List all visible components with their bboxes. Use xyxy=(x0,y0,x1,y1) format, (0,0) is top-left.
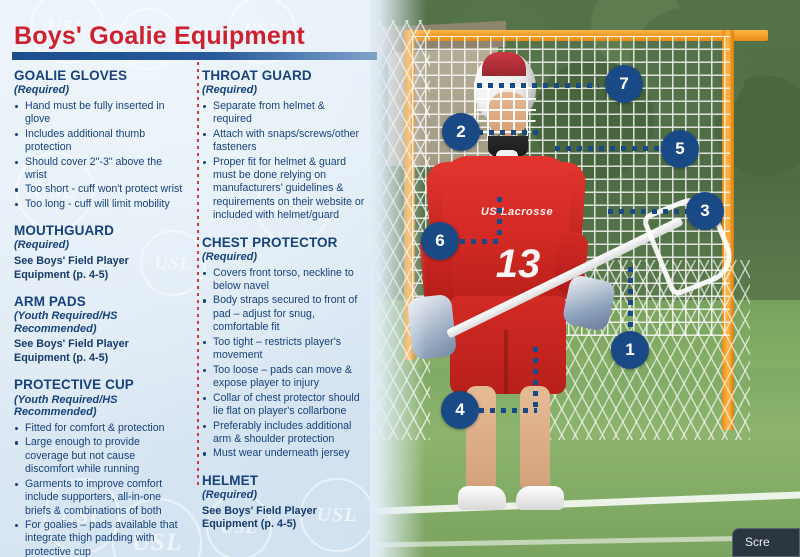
list-item: Too tight – restricts player's movement xyxy=(202,336,366,363)
list-item: Too long - cuff will limit mobility xyxy=(14,198,184,211)
section-requirement: (Required) xyxy=(202,84,366,97)
section-heading: PROTECTIVE CUP xyxy=(14,377,184,392)
callout-6-arm-pads[interactable]: 6 xyxy=(421,222,459,260)
section-requirement: (Youth Required/HS Recommended) xyxy=(14,310,184,335)
list-item: Too short - cuff won't protect wrist xyxy=(14,183,184,196)
leader-line-4-vertical xyxy=(533,347,538,410)
list-item: Must wear underneath jersey xyxy=(202,447,366,460)
content-columns: GOALIE GLOVES (Required) Hand must be fu… xyxy=(14,68,382,513)
see-also-reference: See Boys' Field Player Equipment (p. 4-5… xyxy=(202,505,366,532)
leader-line-5 xyxy=(555,146,665,151)
right-column: THROAT GUARD (Required) Separate from he… xyxy=(192,68,374,513)
jersey-number: 13 xyxy=(488,240,548,288)
player-helmet-stripe xyxy=(482,52,526,76)
list-item: Includes additional thumb protection xyxy=(14,128,184,155)
section-throat-guard: THROAT GUARD (Required) Separate from he… xyxy=(202,68,366,223)
section-requirement: (Required) xyxy=(202,251,366,264)
leader-line-2 xyxy=(478,130,538,135)
section-protective-cup: PROTECTIVE CUP (Youth Required/HS Recomm… xyxy=(14,377,184,557)
list-item: Should cover 2"-3" above the wrist xyxy=(14,156,184,183)
leader-line-6 xyxy=(460,239,502,244)
section-helmet: HELMET (Required) See Boys' Field Player… xyxy=(202,473,366,532)
bullet-list: Separate from helmet & required Attach w… xyxy=(202,100,366,223)
page-title: Boys' Goalie Equipment xyxy=(14,22,305,51)
leader-line-7 xyxy=(477,83,599,88)
section-requirement: (Required) xyxy=(14,84,184,97)
list-item: Body straps secured to front of pad – ad… xyxy=(202,294,366,334)
section-heading: CHEST PROTECTOR xyxy=(202,235,366,250)
list-item: Preferably includes additional arm & sho… xyxy=(202,420,366,447)
section-heading: GOALIE GLOVES xyxy=(14,68,184,83)
list-item: For goalies – pads available that integr… xyxy=(14,519,184,557)
bullet-list: Fitted for comfort & protection Large en… xyxy=(14,422,184,557)
left-column: GOALIE GLOVES (Required) Hand must be fu… xyxy=(14,68,192,513)
list-item: Garments to improve comfort include supp… xyxy=(14,478,184,518)
player-shoe-left xyxy=(458,486,506,510)
leader-line-3 xyxy=(608,209,691,214)
bullet-list: Covers front torso, neckline to below na… xyxy=(202,267,366,461)
player-shoe-right xyxy=(516,486,564,510)
list-item: Large enough to provide coverage but not… xyxy=(14,436,184,476)
player-shorts-seam xyxy=(504,330,508,394)
title-underline-bar xyxy=(12,52,377,60)
see-also-reference: See Boys' Field Player Equipment (p. 4-5… xyxy=(14,338,184,365)
list-item: Hand must be fully inserted in glove xyxy=(14,100,184,127)
page-root: USL USL USL USL USL USL USL USL USL USL … xyxy=(0,0,800,557)
bullet-list: Hand must be fully inserted in glove Inc… xyxy=(14,100,184,212)
section-requirement: (Youth Required/HS Recommended) xyxy=(14,394,184,419)
leader-line-6-vertical xyxy=(497,197,502,241)
see-also-reference: See Boys' Field Player Equipment (p. 4-5… xyxy=(14,255,184,282)
list-item: Too loose – pads can move & expose playe… xyxy=(202,364,366,391)
section-heading: ARM PADS xyxy=(14,294,184,309)
player-shorts xyxy=(450,296,566,394)
screen-tooltip[interactable]: Scre xyxy=(732,528,800,557)
callout-5-mouthguard[interactable]: 5 xyxy=(661,130,699,168)
section-heading: MOUTHGUARD xyxy=(14,223,184,238)
callout-3-chest-protector[interactable]: 3 xyxy=(686,192,724,230)
leader-line-1-vertical xyxy=(628,267,633,335)
list-item: Separate from helmet & required xyxy=(202,100,366,127)
callout-2-throat-guard[interactable]: 2 xyxy=(442,113,480,151)
callout-1-goalie-gloves[interactable]: 1 xyxy=(611,331,649,369)
jersey-logo: US Lacrosse xyxy=(480,196,554,228)
list-item: Covers front torso, neckline to below na… xyxy=(202,267,366,294)
section-mouthguard: MOUTHGUARD (Required) See Boys' Field Pl… xyxy=(14,223,184,282)
leader-line-4 xyxy=(479,408,537,413)
section-requirement: (Required) xyxy=(202,489,366,502)
section-goalie-gloves: GOALIE GLOVES (Required) Hand must be fu… xyxy=(14,68,184,211)
section-arm-pads: ARM PADS (Youth Required/HS Recommended)… xyxy=(14,294,184,365)
list-item: Fitted for comfort & protection xyxy=(14,422,184,435)
section-chest-protector: CHEST PROTECTOR (Required) Covers front … xyxy=(202,235,366,461)
list-item: Collar of chest protector should lie fla… xyxy=(202,392,366,419)
list-item: Attach with snaps/screws/other fasteners xyxy=(202,128,366,155)
section-heading: HELMET xyxy=(202,473,366,488)
callout-7-helmet[interactable]: 7 xyxy=(605,65,643,103)
callout-4-protective-cup[interactable]: 4 xyxy=(441,391,479,429)
section-requirement: (Required) xyxy=(14,239,184,252)
section-heading: THROAT GUARD xyxy=(202,68,366,83)
list-item: Proper fit for helmet & guard must be do… xyxy=(202,156,366,223)
